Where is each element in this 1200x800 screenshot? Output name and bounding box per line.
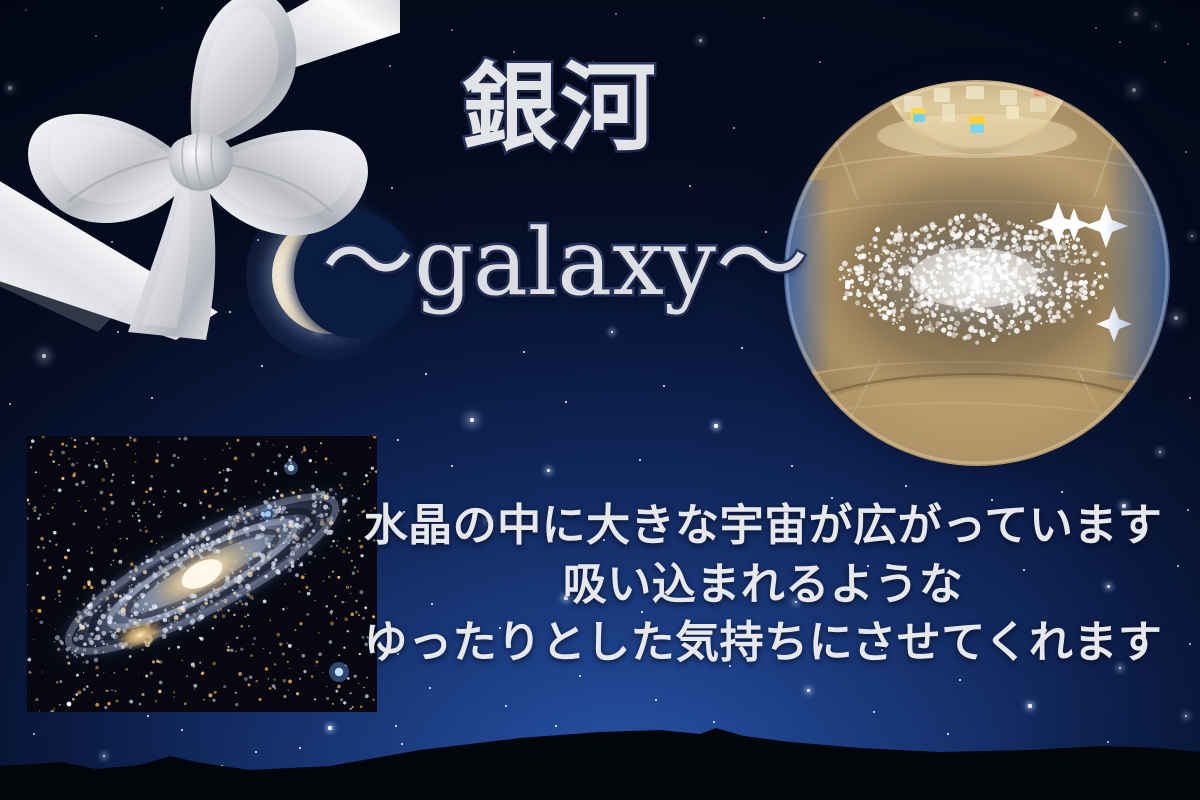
description-text: 水晶の中に大きな宇宙が広がっています 吸い込まれるような ゆったりとした気持ちに… xyxy=(348,497,1178,673)
page-title-japanese: 銀河 xyxy=(0,58,1120,159)
mountain-silhouette xyxy=(0,670,1200,800)
description-line-1: 水晶の中に大きな宇宙が広がっています xyxy=(348,497,1178,556)
description-line-2: 吸い込まれるような xyxy=(348,556,1178,615)
description-line-3: ゆったりとした気持ちにさせてくれます xyxy=(348,614,1178,673)
page-title-english: 〜galaxy〜 xyxy=(0,212,1130,313)
galaxy-poster: 銀河 〜galaxy〜 水晶の中に大きな宇宙が広がっています 吸い込まれるような… xyxy=(0,0,1200,800)
